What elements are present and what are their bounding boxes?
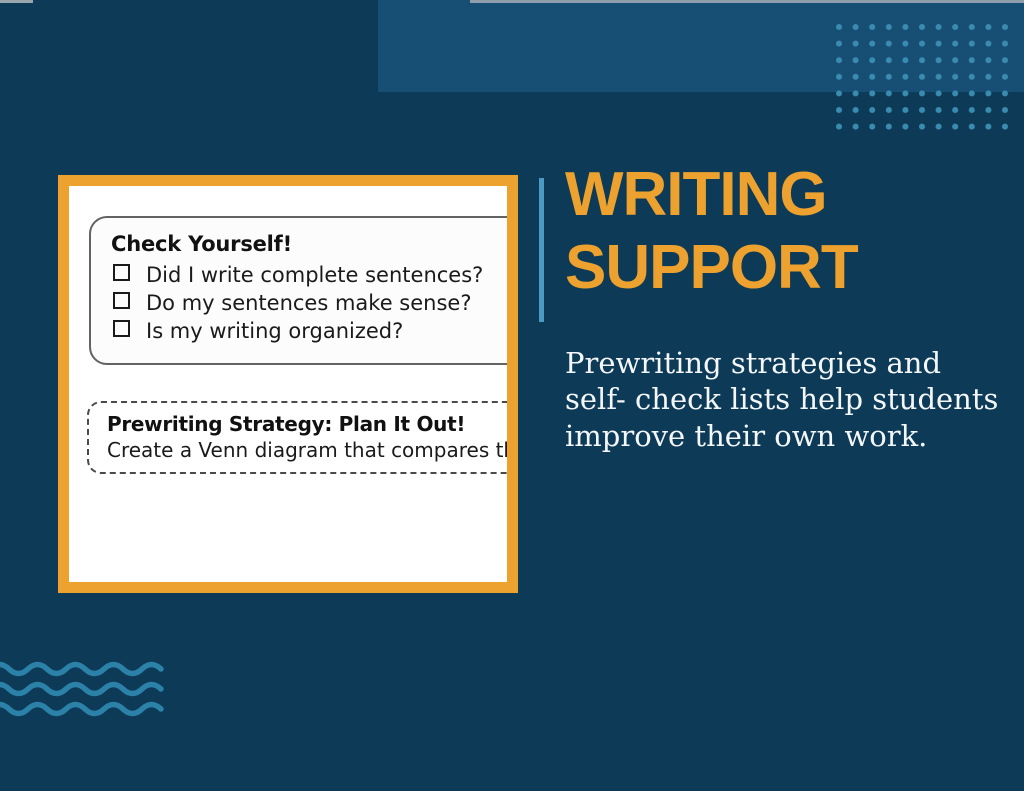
worksheet-content: Check Yourself! Did I write complete sen… (69, 186, 507, 582)
check-list-item: Do my sentences make sense? (111, 289, 507, 317)
description-block: Prewriting strategies and self- check li… (565, 345, 1005, 454)
prewriting-strategy-box: Prewriting Strategy: Plan It Out! Create… (87, 401, 507, 474)
check-list-item-label: Did I write complete sentences? (146, 261, 483, 289)
check-yourself-title: Check Yourself! (111, 232, 507, 256)
top-left-gray-strip (0, 0, 33, 3)
description-text: Prewriting strategies and self- check li… (565, 345, 1005, 454)
dot-grid-icon (836, 24, 1016, 134)
venn-diagram-graphic (69, 476, 507, 582)
check-list-item: Did I write complete sentences? (111, 261, 507, 289)
top-right-gray-strip (470, 0, 1024, 3)
worksheet-image-frame: Check Yourself! Did I write complete sen… (58, 175, 518, 593)
prewriting-strategy-title: Prewriting Strategy: Plan It Out! (107, 412, 507, 436)
check-list-item-label: Is my writing organized? (146, 317, 403, 345)
title-accent-bar (539, 178, 544, 322)
check-list-item: Is my writing organized? (111, 317, 507, 345)
page-title-line-2: SUPPORT (565, 239, 1005, 298)
worksheet-image: Check Yourself! Did I write complete sen… (69, 186, 507, 582)
prewriting-strategy-body: Create a Venn diagram that compares the … (107, 438, 507, 462)
page-title-line-1: WRITING (565, 166, 1005, 225)
checkbox-icon (113, 292, 130, 309)
check-list-item-label: Do my sentences make sense? (146, 289, 471, 317)
page-title: WRITING SUPPORT (565, 166, 1005, 312)
slide-canvas: Check Yourself! Did I write complete sen… (0, 0, 1024, 791)
checkbox-icon (113, 264, 130, 281)
check-yourself-box: Check Yourself! Did I write complete sen… (89, 216, 507, 365)
checkbox-icon (113, 320, 130, 337)
wave-pattern-icon (0, 652, 170, 722)
